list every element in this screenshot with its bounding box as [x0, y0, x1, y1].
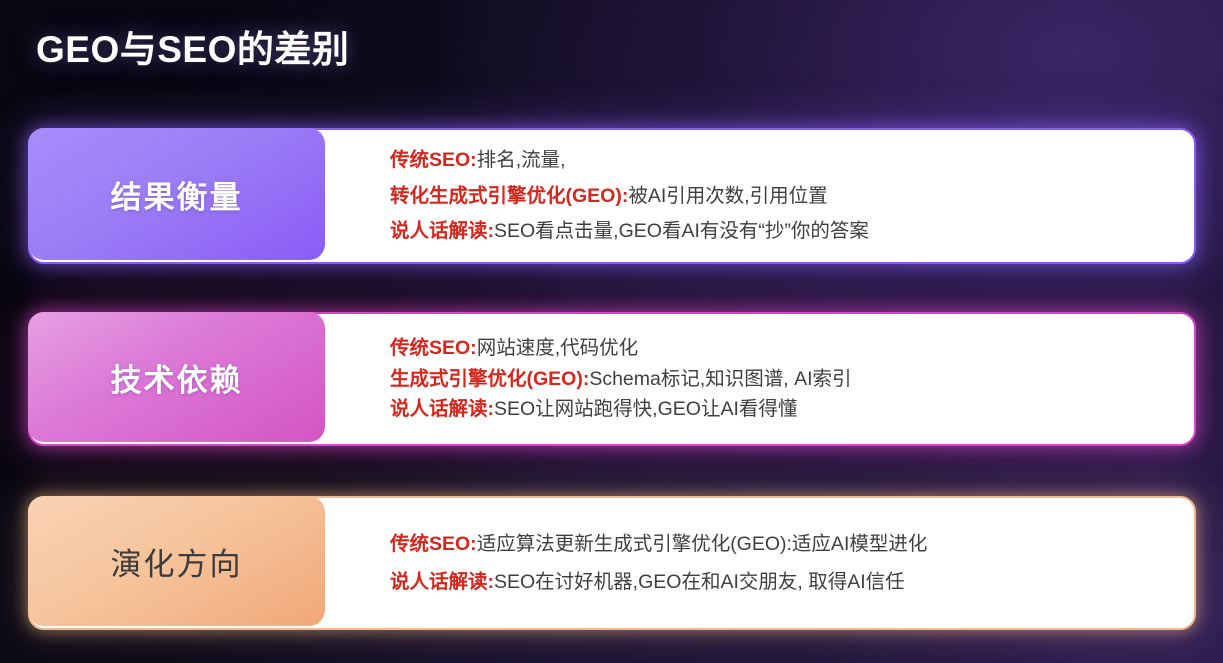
card-1-category-label: 结果衡量 [111, 172, 243, 217]
comparison-card-2: 技术依赖 传统SEO:网站速度,代码优化 生成式引擎优化(GEO):Schema… [28, 312, 1196, 446]
card-3-line-1: 传统SEO:适应算法更新生成式引擎优化(GEO):适应AI模型进化 [390, 533, 1172, 555]
comparison-card-3: 演化方向 传统SEO:适应算法更新生成式引擎优化(GEO):适应AI模型进化 说… [28, 496, 1196, 630]
card-2-line-2: 生成式引擎优化(GEO):Schema标记,知识图谱, AI索引 [390, 368, 1172, 390]
card-2-category-tab: 技术依赖 [28, 312, 325, 442]
page-title: GEO与SEO的差别 [36, 19, 349, 73]
card-2-line-1: 传统SEO:网站速度,代码优化 [390, 337, 1172, 359]
card-1-content: 传统SEO:排名,流量, 转化生成式引擎优化(GEO):被AI引用次数,引用位置… [390, 130, 1172, 262]
comparison-card-1: 结果衡量 传统SEO:排名,流量, 转化生成式引擎优化(GEO):被AI引用次数… [28, 128, 1196, 264]
card-1-line-3-label: 说人话解读: [390, 220, 494, 242]
card-1-line-2-label: 转化生成式引擎优化(GEO): [390, 185, 628, 207]
card-1-line-1: 传统SEO:排名,流量, [390, 149, 1172, 171]
card-1-line-1-label: 传统SEO: [390, 149, 477, 171]
card-1-line-1-value: 排名,流量, [477, 149, 566, 171]
card-3-content: 传统SEO:适应算法更新生成式引擎优化(GEO):适应AI模型进化 说人话解读:… [390, 498, 1172, 628]
card-2-line-2-value: Schema标记,知识图谱, AI索引 [589, 368, 851, 390]
card-2-line-3-label: 说人话解读: [390, 398, 494, 420]
card-1-line-2-value: 被AI引用次数,引用位置 [628, 185, 827, 207]
card-3-line-2: 说人话解读:SEO在讨好机器,GEO在和AI交朋友, 取得AI信任 [390, 571, 1172, 593]
card-1-line-2: 转化生成式引擎优化(GEO):被AI引用次数,引用位置 [390, 185, 1172, 207]
slide-canvas: GEO与SEO的差别 结果衡量 传统SEO:排名,流量, 转化生成式引擎优化(G… [0, 0, 1223, 663]
card-3-line-1-label: 传统SEO: [390, 533, 477, 555]
card-1-line-3-value: SEO看点击量,GEO看AI有没有“抄”你的答案 [494, 220, 869, 242]
card-3-category-label: 演化方向 [111, 539, 243, 584]
card-3-category-tab: 演化方向 [28, 496, 325, 626]
card-1-category-tab: 结果衡量 [28, 128, 325, 260]
card-1-line-3: 说人话解读:SEO看点击量,GEO看AI有没有“抄”你的答案 [390, 220, 1172, 242]
card-2-line-3-value: SEO让网站跑得快,GEO让AI看得懂 [494, 398, 797, 420]
card-3-line-2-value: SEO在讨好机器,GEO在和AI交朋友, 取得AI信任 [494, 571, 905, 593]
card-2-line-3: 说人话解读:SEO让网站跑得快,GEO让AI看得懂 [390, 398, 1172, 420]
card-2-content: 传统SEO:网站速度,代码优化 生成式引擎优化(GEO):Schema标记,知识… [390, 314, 1172, 444]
card-3-line-2-label: 说人话解读: [390, 571, 494, 593]
card-2-line-2-label: 生成式引擎优化(GEO): [390, 368, 589, 390]
card-3-line-1-value: 适应算法更新生成式引擎优化(GEO):适应AI模型进化 [477, 533, 928, 555]
card-2-line-1-value: 网站速度,代码优化 [477, 337, 638, 359]
card-2-line-1-label: 传统SEO: [390, 337, 477, 359]
card-2-category-label: 技术依赖 [111, 355, 243, 400]
